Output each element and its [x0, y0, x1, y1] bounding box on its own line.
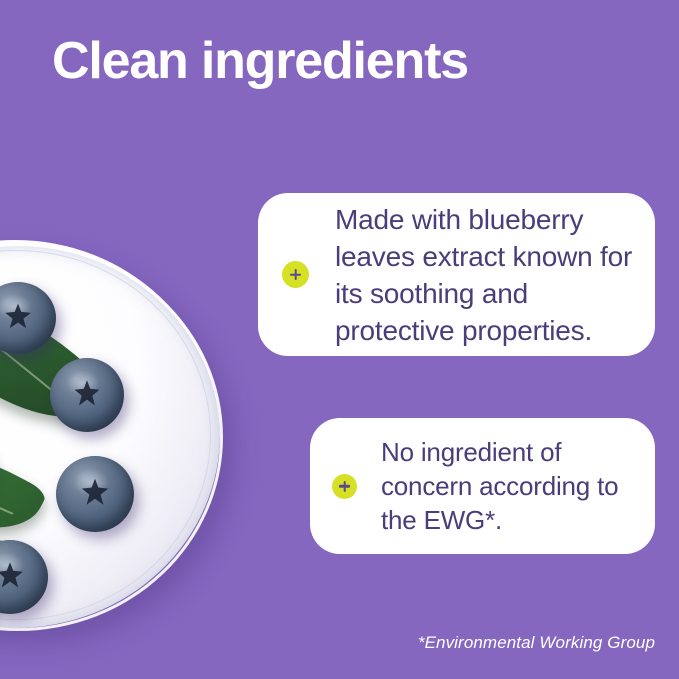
blueberry: [56, 456, 134, 532]
berry-bloom: [0, 552, 24, 579]
benefit-text: No ingredient of concern according to th…: [381, 435, 637, 537]
plus-icon: [282, 261, 309, 288]
berry-bloom: [73, 468, 109, 495]
blueberry: [50, 358, 124, 432]
product-claim-banner: Clean ingredients Made with blueberry le…: [0, 0, 679, 679]
benefit-card: Made with blueberry leaves extract known…: [258, 193, 655, 356]
berry-bloom: [0, 294, 32, 320]
plus-icon: [332, 474, 357, 499]
blueberry-dish-photo: [0, 240, 230, 640]
berry-bloom: [66, 370, 100, 397]
footnote: *Environmental Working Group: [418, 633, 655, 653]
benefit-text: Made with blueberry leaves extract known…: [335, 201, 635, 349]
benefit-card: No ingredient of concern according to th…: [310, 418, 655, 554]
page-title: Clean ingredients: [52, 30, 468, 92]
